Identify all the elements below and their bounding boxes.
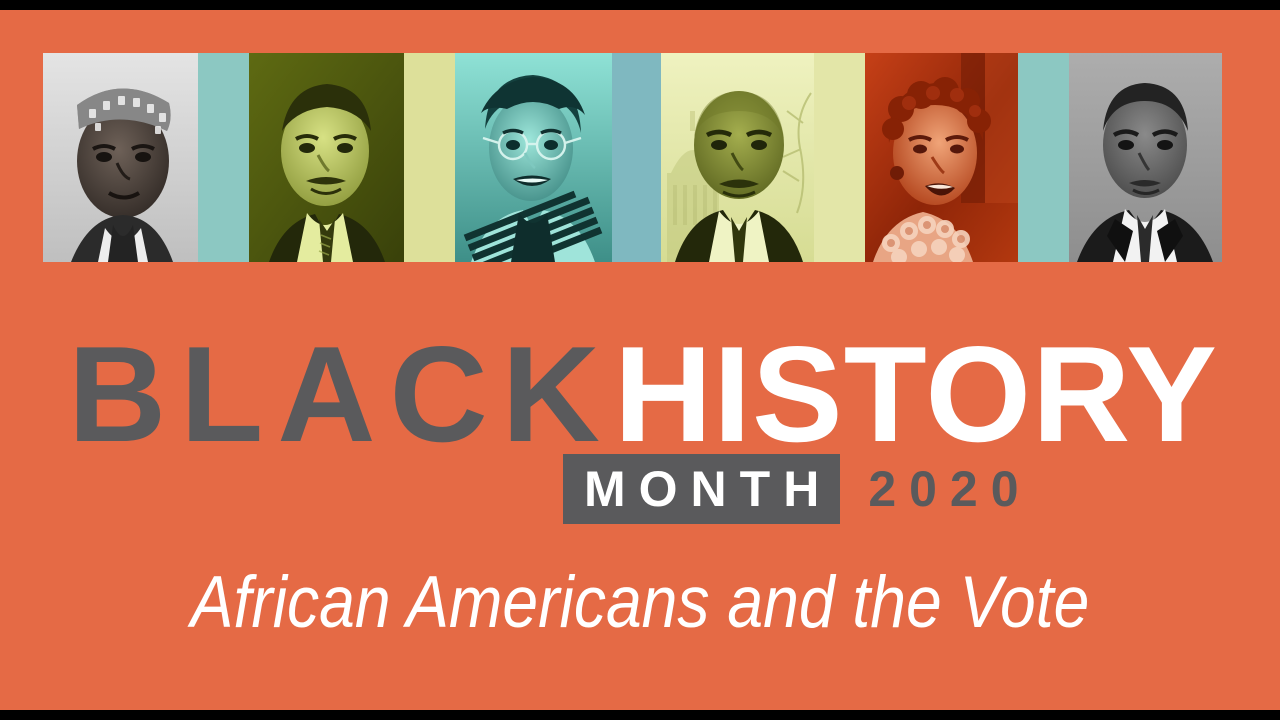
portrait-panel-martin-luther-king-jr [249, 53, 404, 262]
bar-yellow-green-2 [814, 53, 865, 262]
wordmark: BLACK HISTORY [0, 326, 1280, 456]
month-year-row: MONTH 2020 [563, 454, 1032, 524]
portrait-panel-john-lewis [661, 53, 814, 262]
bar-yellow-green-1 [404, 53, 455, 262]
portrait-panel-rosa-parks [455, 53, 612, 262]
letterbox-bar-bottom [0, 710, 1280, 720]
wordmark-history: HISTORY [614, 326, 1218, 462]
portrait-image-rosa-parks [455, 53, 612, 262]
bar-teal-2 [612, 53, 661, 262]
portrait-panel-fannie-lou-hamer [865, 53, 1018, 262]
portrait-image-fannie-lou-hamer [865, 53, 1018, 262]
wordmark-black: BLACK [62, 326, 614, 462]
bar-teal-3 [1018, 53, 1069, 262]
letterbox-bar-top [0, 0, 1280, 10]
black-history-month-poster: BLACK HISTORY MONTH 2020 African America… [0, 0, 1280, 720]
portrait-image-harriet-tubman [43, 53, 198, 262]
portrait-image-martin-luther-king-jr [249, 53, 404, 262]
poster-subtitle: African Americans and the Vote [77, 560, 1203, 646]
portrait-panel-harriet-tubman [43, 53, 198, 262]
bar-teal-1 [198, 53, 249, 262]
wordmark-year: 2020 [868, 454, 1031, 524]
portrait-image-barack-obama [1069, 53, 1222, 262]
portrait-strip [43, 53, 1237, 262]
portrait-panel-barack-obama [1069, 53, 1222, 262]
wordmark-month: MONTH [563, 454, 840, 524]
portrait-image-john-lewis [661, 53, 814, 262]
poster-stage: BLACK HISTORY MONTH 2020 African America… [0, 10, 1280, 710]
